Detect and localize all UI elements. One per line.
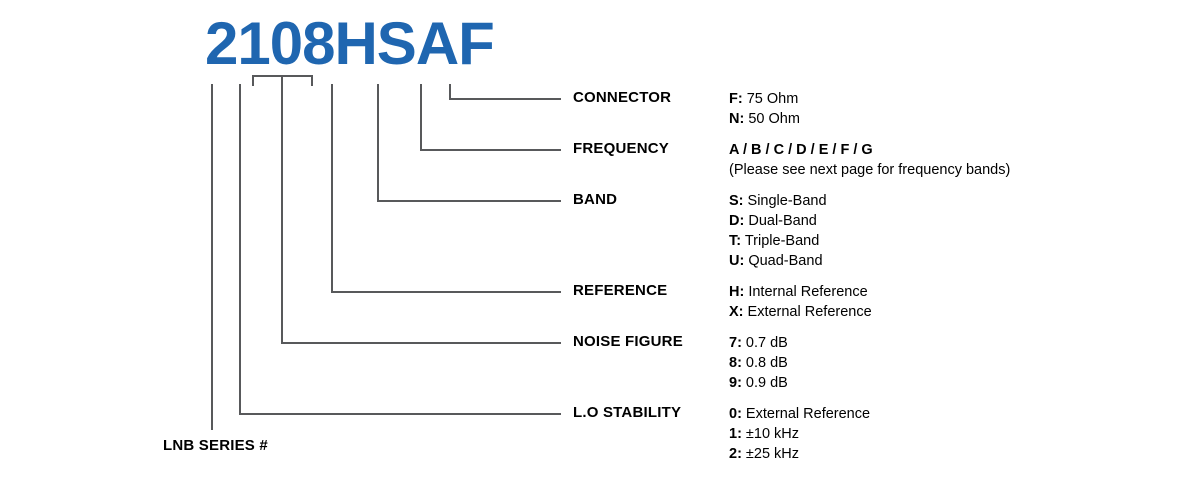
lnb-series-label: LNB SERIES #	[163, 437, 268, 454]
leader-line-frequency-vertical	[420, 84, 422, 151]
desc-item: 2: ±25 kHz	[729, 444, 870, 464]
desc-note: (Please see next page for frequency band…	[729, 160, 1010, 180]
row-label-lo-stability: L.O STABILITY	[573, 404, 681, 421]
desc-item-value: 0.7 dB	[742, 335, 788, 351]
desc-item-key: 1:	[729, 426, 742, 442]
desc-item: F: 75 Ohm	[729, 89, 800, 109]
desc-item: 9: 0.9 dB	[729, 373, 788, 393]
row-desc-reference: H: Internal ReferenceX: External Referen…	[729, 282, 872, 322]
desc-item: S: Single-Band	[729, 191, 827, 211]
leader-line-band-vertical	[377, 84, 379, 202]
desc-item: D: Dual-Band	[729, 211, 827, 231]
desc-item-key: S:	[729, 193, 744, 209]
desc-item-value: 75 Ohm	[743, 91, 799, 107]
desc-item-value: ±10 kHz	[742, 426, 799, 442]
desc-item: 1: ±10 kHz	[729, 424, 870, 444]
row-desc-band: S: Single-BandD: Dual-BandT: Triple-Band…	[729, 191, 827, 271]
desc-item-key: 7:	[729, 335, 742, 351]
part-number-breakdown-diagram: 2108HSAF CONNECTOR FREQUENCY BAND REFERE…	[0, 0, 1200, 493]
desc-item: H: Internal Reference	[729, 282, 872, 302]
desc-item-value: Single-Band	[744, 193, 827, 209]
part-number-text: 2108HSAF	[205, 14, 494, 74]
leader-line-noise-figure-horizontal	[281, 342, 561, 344]
desc-item-value: 0.9 dB	[742, 375, 788, 391]
desc-item-value: Quad-Band	[744, 253, 822, 269]
desc-item-key: H:	[729, 284, 744, 300]
desc-item-value: 0.8 dB	[742, 355, 788, 371]
row-desc-noise-figure: 7: 0.7 dB8: 0.8 dB9: 0.9 dB	[729, 333, 788, 393]
leader-bracket-noise-figure-left	[252, 75, 254, 86]
desc-item: N: 50 Ohm	[729, 109, 800, 129]
desc-item-key: 9:	[729, 375, 742, 391]
desc-item-value: 50 Ohm	[744, 111, 800, 127]
leader-line-lo-stability-horizontal	[239, 413, 561, 415]
desc-item-value: External Reference	[742, 406, 870, 422]
desc-item-key: D:	[729, 213, 744, 229]
desc-item: A / B / C / D / E / F / G	[729, 140, 1010, 160]
desc-item-value: ±25 kHz	[742, 446, 799, 462]
desc-item-value: Dual-Band	[744, 213, 817, 229]
leader-line-band-horizontal	[377, 200, 561, 202]
row-desc-connector: F: 75 OhmN: 50 Ohm	[729, 89, 800, 129]
leader-line-lo-stability-vertical	[239, 84, 241, 415]
desc-item: 0: External Reference	[729, 404, 870, 424]
row-desc-frequency: A / B / C / D / E / F / G(Please see nex…	[729, 140, 1010, 180]
desc-item-value: Internal Reference	[744, 284, 867, 300]
desc-item-key: U:	[729, 253, 744, 269]
leader-line-reference-vertical	[331, 84, 333, 293]
leader-line-reference-horizontal	[331, 291, 561, 293]
desc-item-key: N:	[729, 111, 744, 127]
leader-line-noise-figure-vertical	[281, 75, 283, 344]
desc-item-key: F:	[729, 91, 743, 107]
desc-item-key: T:	[729, 233, 741, 249]
leader-line-frequency-horizontal	[420, 149, 561, 151]
leader-bracket-noise-figure-right	[311, 75, 313, 86]
row-label-band: BAND	[573, 191, 617, 208]
leader-line-connector-horizontal	[449, 98, 561, 100]
desc-item: 7: 0.7 dB	[729, 333, 788, 353]
row-label-reference: REFERENCE	[573, 282, 667, 299]
desc-item-key: X:	[729, 304, 744, 320]
desc-item-key: A / B / C / D / E / F / G	[729, 142, 873, 158]
desc-item-value: External Reference	[744, 304, 872, 320]
desc-item-key: 2:	[729, 446, 742, 462]
desc-item: T: Triple-Band	[729, 231, 827, 251]
desc-item: U: Quad-Band	[729, 251, 827, 271]
leader-line-series	[211, 84, 213, 430]
desc-item-key: 8:	[729, 355, 742, 371]
desc-item: X: External Reference	[729, 302, 872, 322]
row-label-frequency: FREQUENCY	[573, 140, 669, 157]
desc-item: 8: 0.8 dB	[729, 353, 788, 373]
row-desc-lo-stability: 0: External Reference1: ±10 kHz2: ±25 kH…	[729, 404, 870, 464]
row-label-connector: CONNECTOR	[573, 89, 671, 106]
row-label-noise-figure: NOISE FIGURE	[573, 333, 683, 350]
desc-item-key: 0:	[729, 406, 742, 422]
desc-item-value: Triple-Band	[741, 233, 819, 249]
